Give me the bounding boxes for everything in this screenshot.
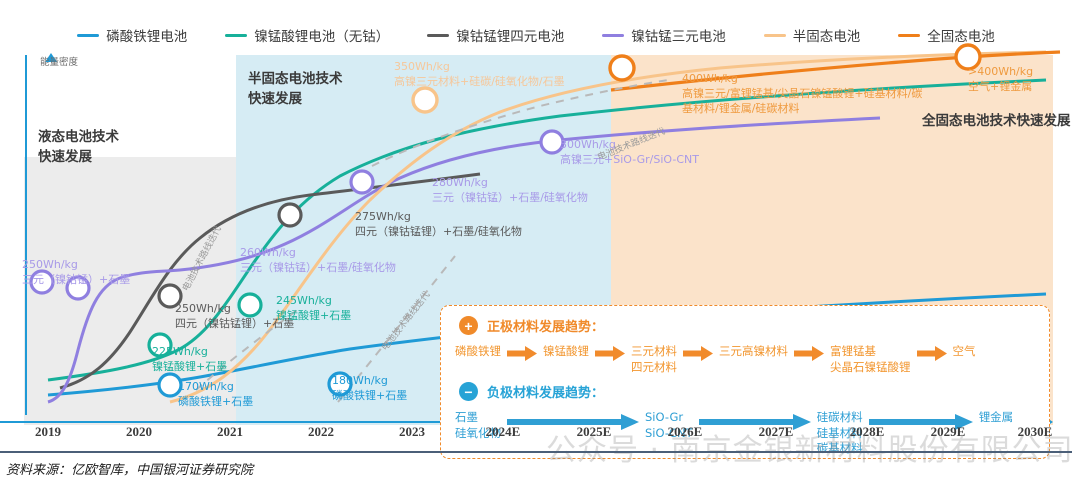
- cathode-step: 磷酸铁锂: [455, 344, 501, 360]
- source-note: 资料来源：亿欧智库，中国银河证券研究院: [6, 459, 253, 478]
- arrow-right-icon: [507, 346, 537, 361]
- legend-item-nmc[interactable]: 镍钴锰三元电池: [602, 25, 726, 45]
- point-label-lfp-180: 180Wh/kg磷酸铁锂+石墨: [332, 374, 407, 404]
- xtick: 2025E: [577, 424, 612, 440]
- cathode-step: 富锂锰基 尖晶石镍锰酸锂: [830, 344, 911, 375]
- xtick: 2030E: [1018, 424, 1053, 440]
- xtick: 2028E: [850, 424, 885, 440]
- battery-roadmap-chart: 磷酸铁锂电池 镍锰酸锂电池（无钴） 镍钴锰锂四元电池 镍钴锰三元电池 半固态电池…: [0, 0, 1072, 484]
- legend-label: 磷酸铁锂电池: [106, 25, 187, 45]
- xtick: 2019: [35, 424, 61, 440]
- point-label-solid-400: 400Wh/kg高镍三元/富锂锰基/尖晶石镍锰酸锂+硅基材料/碳基材料/锂金属/…: [682, 72, 932, 117]
- line-swatch-icon: [764, 34, 786, 37]
- marker-nmc-2023: [351, 171, 373, 193]
- xtick: 2024E: [486, 424, 521, 440]
- chart-legend: 磷酸铁锂电池 镍锰酸锂电池（无钴） 镍钴锰锂四元电池 镍钴锰三元电池 半固态电池…: [0, 24, 1072, 46]
- cathode-step: 三元材料 四元材料: [631, 344, 677, 375]
- point-label-solid-gt400: >400Wh/kg空气+锂金属: [968, 65, 1033, 95]
- legend-label: 镍钴锰三元电池: [631, 25, 726, 45]
- arrow-right-icon: [683, 346, 713, 361]
- arrow-right-icon: [595, 346, 625, 361]
- legend-label: 镍钴锰锂四元电池: [456, 25, 564, 45]
- minus-icon: −: [459, 382, 478, 401]
- xtick: 2026E: [668, 424, 703, 440]
- xtick: 2020: [126, 424, 152, 440]
- cathode-header: + 正极材料发展趋势：: [459, 316, 604, 335]
- legend-item-all-solid[interactable]: 全固态电池: [898, 25, 995, 45]
- xtick: 2029E: [931, 424, 966, 440]
- marker-nmca-2022: [279, 204, 301, 226]
- point-label-lfp-170: 170Wh/kg磷酸铁锂+石墨: [178, 380, 253, 410]
- line-swatch-icon: [225, 34, 247, 37]
- point-label-lnmo-225: 225Wh/kg镍锰酸锂+石墨: [152, 345, 227, 375]
- point-label-nmca-275: 275Wh/kg四元（镍钴锰锂）+石墨/硅氧化物: [355, 210, 522, 240]
- point-label-nmc-250: 250Wh/kg三元（镍钴锰）+石墨: [22, 258, 130, 288]
- anode-title: 负极材料发展趋势：: [487, 382, 604, 401]
- cathode-step: 空气: [953, 344, 976, 360]
- plot-area: 液态电池技术 快速发展 半固态电池技术 快速发展 全固态电池技术快速发展 能量密…: [0, 50, 1072, 425]
- legend-label: 全固态电池: [927, 25, 995, 45]
- line-swatch-icon: [427, 34, 449, 37]
- footer-divider: [0, 451, 1072, 453]
- legend-label: 半固态电池: [793, 25, 861, 45]
- anode-header: − 负极材料发展趋势：: [459, 382, 604, 401]
- arrow-right-icon: [794, 346, 824, 361]
- cathode-flow: 磷酸铁锂 镍锰酸锂 三元材料 四元材料 三元高镍材料 富锂锰基 尖晶石镍锰酸锂 …: [455, 344, 1035, 375]
- arrow-right-icon: [917, 346, 947, 361]
- xtick: 2027E: [759, 424, 794, 440]
- line-swatch-icon: [602, 34, 624, 37]
- cathode-step: 镍锰酸锂: [543, 344, 589, 360]
- xtick: 2022: [308, 424, 334, 440]
- legend-item-lnmo[interactable]: 镍锰酸锂电池（无钴）: [225, 25, 389, 45]
- marker-semi-2024: [413, 88, 437, 112]
- line-swatch-icon: [77, 34, 99, 37]
- point-label-lnmo-245: 245Wh/kg镍锰酸锂+石墨: [276, 294, 351, 324]
- x-axis-tick-labels: 2019 2020 2021 2022 2023 2024E 2025E 202…: [0, 424, 1072, 446]
- line-swatch-icon: [898, 34, 920, 37]
- point-label-nmc-280: 280Wh/kg三元（镍钴锰）+石墨/硅氧化物: [432, 176, 588, 206]
- legend-item-nmca[interactable]: 镍钴锰锂四元电池: [427, 25, 564, 45]
- legend-item-lfp[interactable]: 磷酸铁锂电池: [77, 25, 187, 45]
- legend-item-semi-solid[interactable]: 半固态电池: [764, 25, 861, 45]
- point-label-semi-350: 350Wh/kg高镍三元材料+硅碳/硅氧化物/石墨: [394, 60, 565, 90]
- cathode-step: 三元高镍材料: [719, 344, 788, 360]
- xtick: 2023: [399, 424, 425, 440]
- legend-label: 镍锰酸锂电池（无钴）: [254, 25, 389, 45]
- marker-solid-2026: [610, 56, 634, 80]
- xtick: 2021: [217, 424, 243, 440]
- point-label-nmc-260: 260Wh/kg三元（镍钴锰）+石墨/硅氧化物: [240, 246, 396, 276]
- plus-icon: +: [459, 316, 478, 335]
- cathode-title: 正极材料发展趋势：: [487, 316, 604, 335]
